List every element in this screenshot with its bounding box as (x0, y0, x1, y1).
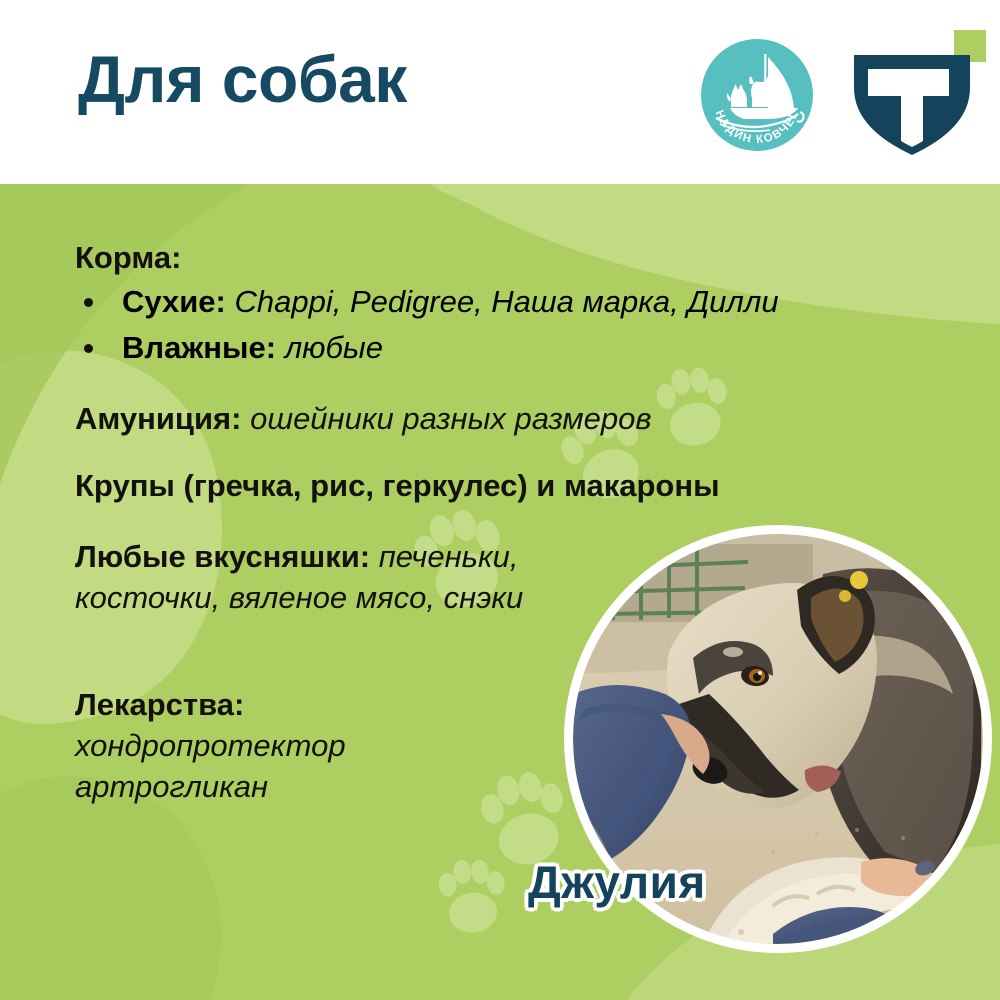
header-bar: Для собак (0, 0, 1000, 184)
page-title: Для собак (78, 46, 407, 112)
poster-root: Корма: Сухие: Chappi, Pedigree, Наша мар… (0, 0, 1000, 1000)
photo-caption: Джулия (528, 855, 706, 909)
shield-t-logo (848, 28, 988, 158)
nadin-kovcheg-logo: НАДИН КОВЧЕГ (700, 38, 814, 152)
